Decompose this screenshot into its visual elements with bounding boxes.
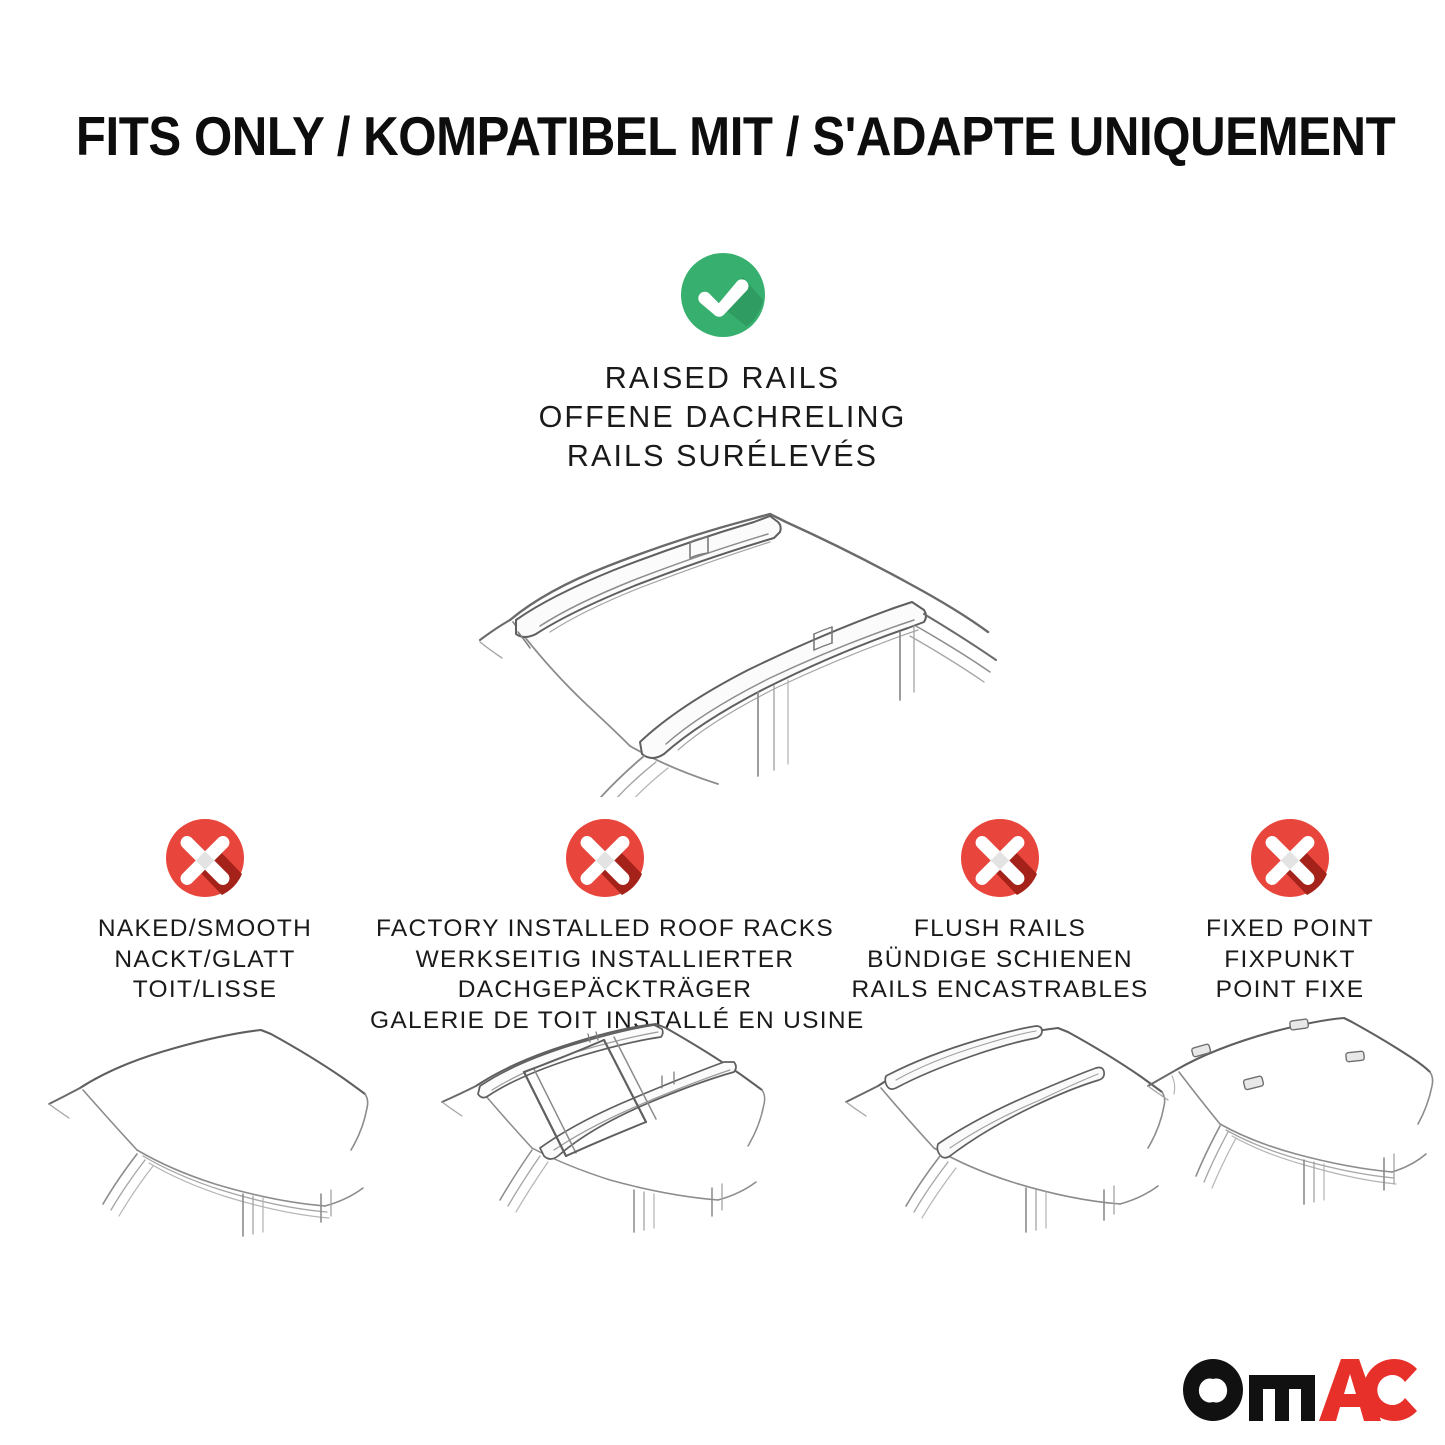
incompatible-item-fixed-point: FIXED POINT FIXPUNKT POINT FIXE (1140, 818, 1440, 1006)
incompatible-item-naked-smooth: NAKED/SMOOTH NACKT/GLATT TOIT/LISSE (40, 818, 370, 1006)
car-roof-naked-smooth-illustration (25, 1008, 385, 1243)
x-circle-icon (960, 818, 1040, 898)
incompatible-item-flush-rails: FLUSH RAILS BÜNDIGE SCHIENEN RAILS ENCAS… (835, 818, 1165, 1006)
x-circle-icon (1250, 818, 1330, 898)
incompatible-label-line: NACKT/GLATT (40, 945, 370, 976)
compatible-label-line: RAILS SURÉLEVÉS (0, 437, 1445, 476)
incompatible-label-line: POINT FIXE (1140, 975, 1440, 1006)
omac-logo (1183, 1357, 1419, 1423)
incompatible-label-line: FLUSH RAILS (835, 914, 1165, 945)
check-circle-icon (680, 252, 766, 338)
incompatible-label-line: BÜNDIGE SCHIENEN (835, 945, 1165, 976)
compatible-label-line: OFFENE DACHRELING (0, 398, 1445, 437)
incompatible-label: FIXED POINT FIXPUNKT POINT FIXE (1140, 914, 1440, 1006)
incompatible-label-line: WERKSEITIG INSTALLIERTER (370, 945, 840, 976)
infographic-canvas: FITS ONLY / KOMPATIBEL MIT / S'ADAPTE UN… (0, 0, 1445, 1445)
x-circle-icon (165, 818, 245, 898)
incompatible-label-line: RAILS ENCASTRABLES (835, 975, 1165, 1006)
compatible-label-line: RAISED RAILS (0, 359, 1445, 398)
incompatible-label: NAKED/SMOOTH NACKT/GLATT TOIT/LISSE (40, 914, 370, 1006)
incompatible-label-line: FIXPUNKT (1140, 945, 1440, 976)
incompatible-item-factory-roof-racks: FACTORY INSTALLED ROOF RACKS WERKSEITIG … (370, 818, 840, 1036)
incompatible-label-line: FIXED POINT (1140, 914, 1440, 945)
incompatible-label-line: TOIT/LISSE (40, 975, 370, 1006)
compatible-section: RAISED RAILS OFFENE DACHRELING RAILS SUR… (0, 252, 1445, 476)
x-circle-icon (565, 818, 645, 898)
compatible-label: RAISED RAILS OFFENE DACHRELING RAILS SUR… (0, 359, 1445, 476)
car-roof-fixed-point-illustration (1140, 1008, 1440, 1243)
incompatible-label-line: NAKED/SMOOTH (40, 914, 370, 945)
car-roof-factory-roof-racks-illustration (420, 1000, 790, 1245)
incompatible-section: NAKED/SMOOTH NACKT/GLATT TOIT/LISSE (0, 818, 1445, 1438)
car-roof-flush-rails-illustration (820, 1008, 1180, 1243)
page-title: FITS ONLY / KOMPATIBEL MIT / S'ADAPTE UN… (76, 106, 1369, 166)
incompatible-label: FLUSH RAILS BÜNDIGE SCHIENEN RAILS ENCAS… (835, 914, 1165, 1006)
car-roof-raised-rails-illustration (418, 492, 1043, 797)
incompatible-label-line: FACTORY INSTALLED ROOF RACKS (370, 914, 840, 945)
